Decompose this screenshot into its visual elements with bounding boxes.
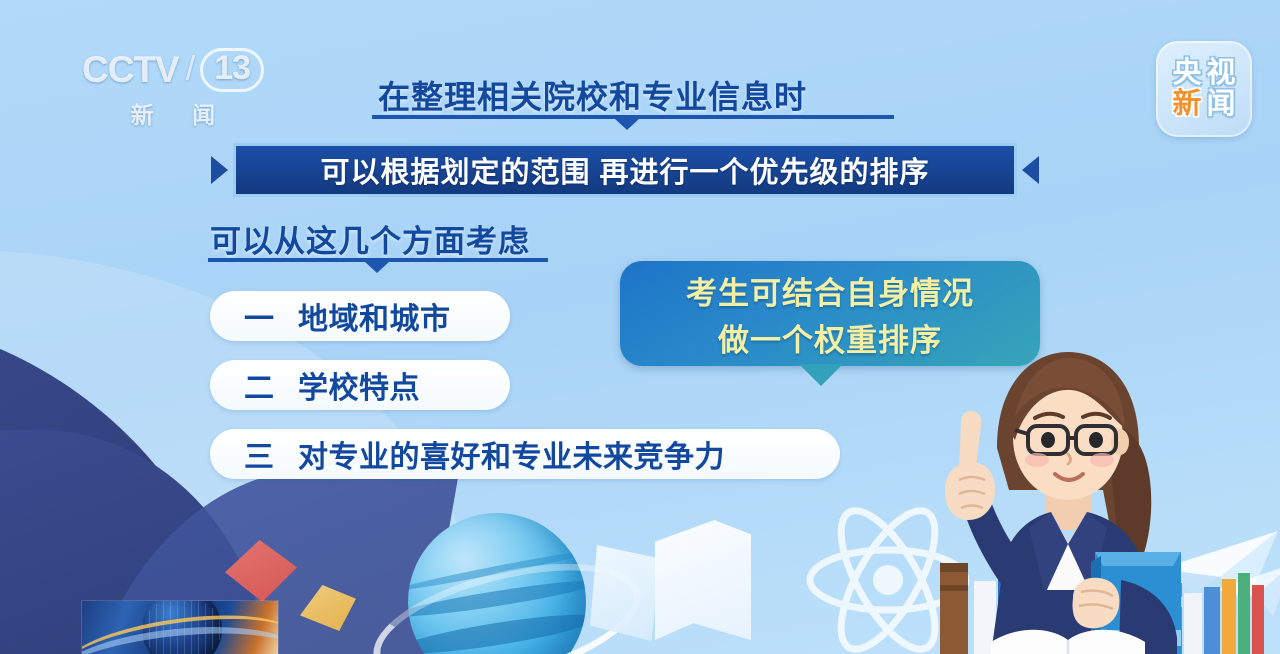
paper-sheet-icon-front bbox=[655, 520, 751, 640]
speech-bubble-line-1: 考生可结合自身情况 bbox=[686, 268, 974, 313]
banner-inner: 可以根据划定的范围 再进行一个优先级的排序 bbox=[236, 146, 1014, 194]
cctv-subtitle: 新 闻 bbox=[82, 96, 264, 130]
app-logo-line-1: 央 视 bbox=[1172, 59, 1235, 88]
banner-frame: 可以根据划定的范围 再进行一个优先级的排序 bbox=[233, 143, 1017, 197]
option-label-1: 地域和城市 bbox=[298, 294, 451, 338]
highlight-banner: 可以根据划定的范围 再进行一个优先级的排序 bbox=[205, 143, 1045, 197]
option-number-2: 二 bbox=[244, 363, 298, 407]
subheadline-text: 可以从这几个方面考虑 bbox=[210, 216, 530, 261]
headline-text: 在整理相关院校和专业信息时 bbox=[378, 72, 807, 118]
option-label-2: 学校特点 bbox=[298, 363, 420, 407]
app-logo-char-yang: 央 bbox=[1172, 59, 1201, 88]
cctv-brand-text: CCTV bbox=[82, 49, 179, 91]
app-logo-char-xin: 新 bbox=[1172, 90, 1201, 119]
speech-bubble-tail bbox=[799, 364, 843, 386]
app-logo-char-wen: 闻 bbox=[1207, 90, 1236, 119]
paper-sheet-icon-back bbox=[590, 545, 660, 641]
broadcast-graphic-frame: CCTV / 13 新 闻 央 视 新 闻 在整理相关院校和专业信息时 可以根据… bbox=[0, 0, 1280, 654]
chevron-left-icon bbox=[1022, 156, 1039, 184]
cctv-channel-number: 13 bbox=[200, 48, 264, 92]
cctv-watermark: CCTV / 13 新 闻 bbox=[82, 48, 264, 132]
app-logo-line-2: 新 闻 bbox=[1172, 90, 1235, 119]
option-pill-2: 二 学校特点 bbox=[210, 360, 510, 410]
app-logo-char-shi: 视 bbox=[1207, 59, 1236, 88]
chevron-right-icon bbox=[211, 156, 228, 184]
subheadline-chevron-down-icon bbox=[364, 261, 390, 273]
studio-globe-thumbnail bbox=[82, 601, 278, 654]
option-label-3: 对专业的喜好和专业未来竞争力 bbox=[298, 432, 725, 476]
female-teacher-illustration bbox=[905, 330, 1235, 654]
banner-text: 可以根据划定的范围 再进行一个优先级的排序 bbox=[320, 149, 929, 191]
option-number-1: 一 bbox=[244, 294, 298, 338]
option-pill-3: 三 对专业的喜好和专业未来竞争力 bbox=[210, 429, 840, 479]
cctv-slash: / bbox=[183, 50, 196, 89]
cctv-news-app-logo[interactable]: 央 视 新 闻 bbox=[1156, 41, 1252, 137]
headline-chevron-down-icon bbox=[614, 118, 640, 130]
option-pill-1: 一 地域和城市 bbox=[210, 291, 510, 341]
option-number-3: 三 bbox=[244, 432, 298, 476]
